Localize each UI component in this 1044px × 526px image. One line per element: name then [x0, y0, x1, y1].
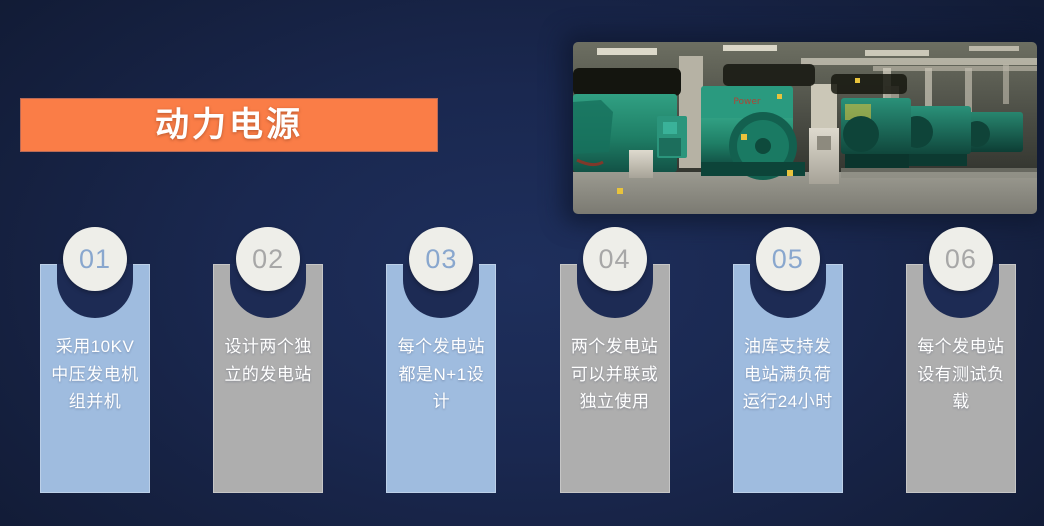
card-number-badge-06: 06 — [929, 227, 993, 291]
card-text-01: 采用10KV中压发电机组并机 — [49, 333, 141, 416]
card-text-06: 每个发电站设有测试负载 — [915, 333, 1007, 416]
photo-artwork: Power — [573, 42, 1037, 214]
card-number-badge-03: 03 — [409, 227, 473, 291]
feature-card-04[interactable]: 两个发电站可以并联或独立使用 04 — [560, 227, 670, 493]
card-number-badge-04: 04 — [583, 227, 647, 291]
feature-cards-row: 采用10KV中压发电机组并机 01 设计两个独立的发电站 02 每个发电站都是N… — [40, 227, 1016, 493]
card-number-02: 02 — [252, 246, 284, 273]
card-text-03: 每个发电站都是N+1设计 — [395, 333, 487, 416]
feature-card-02[interactable]: 设计两个独立的发电站 02 — [213, 227, 323, 493]
card-number-badge-01: 01 — [63, 227, 127, 291]
generator-room-photo: Power — [573, 42, 1037, 214]
card-number-01: 01 — [79, 246, 111, 273]
card-number-badge-05: 05 — [756, 227, 820, 291]
card-number-06: 06 — [945, 246, 977, 273]
card-number-03: 03 — [425, 246, 457, 273]
page-title: 动力电源 — [155, 108, 303, 142]
card-text-02: 设计两个独立的发电站 — [222, 333, 314, 388]
feature-card-01[interactable]: 采用10KV中压发电机组并机 01 — [40, 227, 150, 493]
title-banner: 动力电源 — [20, 98, 438, 152]
slide-canvas: 动力电源 — [0, 0, 1044, 526]
card-number-04: 04 — [599, 246, 631, 273]
card-text-04: 两个发电站可以并联或独立使用 — [569, 333, 661, 416]
card-text-05: 油库支持发电站满负荷运行24小时 — [742, 333, 834, 416]
svg-text:Power: Power — [733, 97, 761, 107]
feature-card-03[interactable]: 每个发电站都是N+1设计 03 — [386, 227, 496, 493]
card-number-05: 05 — [772, 246, 804, 273]
card-number-badge-02: 02 — [236, 227, 300, 291]
feature-card-05[interactable]: 油库支持发电站满负荷运行24小时 05 — [733, 227, 843, 493]
feature-card-06[interactable]: 每个发电站设有测试负载 06 — [906, 227, 1016, 493]
